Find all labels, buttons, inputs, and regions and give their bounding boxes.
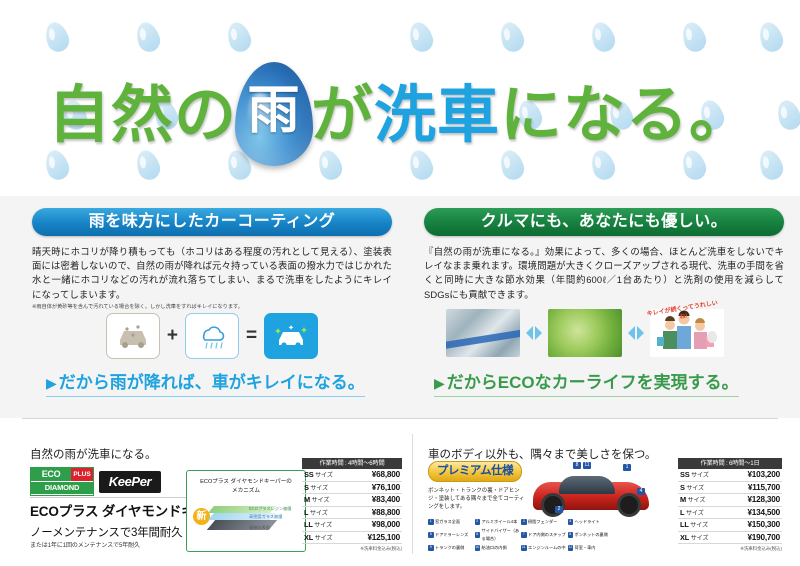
- rain-drop-icon: [133, 19, 163, 54]
- table-row: XL サイズ¥125,100: [302, 532, 402, 545]
- feature-label: ヘッドライト: [575, 518, 600, 526]
- rain-drop-icon: [756, 19, 786, 54]
- table-row: SS サイズ¥103,200: [678, 469, 782, 482]
- clean-car-sparkle-icon: [264, 313, 318, 359]
- price-size: LL サイズ: [302, 520, 332, 529]
- title-part-4: 洗車: [374, 81, 500, 150]
- table-row: SS サイズ¥68,800: [302, 469, 402, 482]
- feature-number: 4: [568, 519, 574, 525]
- mechanism-diagram: ECOプラス ダイヤモンドキーパーの メカニズム 新 ECOプラスレジン被膜 高…: [186, 470, 306, 552]
- drop-character: 雨: [235, 78, 313, 144]
- rain-drop-icon: [224, 19, 254, 54]
- dirty-car-icon: [106, 313, 160, 359]
- triangle-marker-icon: ▶: [46, 375, 57, 391]
- feature-number: 8: [568, 532, 574, 538]
- photo-strip: キレイが続くってうれしいね!: [446, 306, 776, 360]
- premium-description: ボンネット・トランクの裏・ドアヒンジ・塗装してある隅々まで全てコーティングをしま…: [428, 487, 528, 511]
- feature-item: 12荷室・車内: [568, 544, 615, 552]
- table-row: M サイズ¥128,300: [678, 494, 782, 507]
- price-size: L サイズ: [302, 508, 328, 517]
- table-row: XL サイズ¥190,700: [678, 532, 782, 545]
- price-value: ¥150,300: [747, 520, 782, 529]
- feature-label: トランクの裏側: [435, 544, 464, 552]
- plus-operator: +: [167, 325, 178, 347]
- right-panel-heading: クルマにも、あなたにも優しい。: [424, 208, 784, 236]
- callout-1: 1: [623, 464, 631, 471]
- price-size: XL サイズ: [302, 533, 332, 542]
- standard-price-rows: SS サイズ¥68,800S サイズ¥76,100M サイズ¥83,400L サ…: [302, 469, 402, 544]
- water-droplets-photo: [446, 309, 520, 357]
- plus-logo-text: PLUS: [71, 468, 93, 481]
- title-part-3: が: [311, 81, 374, 150]
- price-size: M サイズ: [302, 495, 329, 504]
- brand-logos: ECO PLUS DIAMOND KeePer: [30, 467, 161, 496]
- table-row: S サイズ¥76,100: [302, 482, 402, 495]
- feature-item: 9トランクの裏側: [428, 544, 475, 552]
- right-panel: クルマにも、あなたにも優しい。 『自然の雨が洗車になる。』効果によって、多くの場…: [424, 208, 784, 302]
- feature-item: 3樹脂フェンダー: [521, 518, 568, 526]
- price-size: M サイズ: [678, 495, 705, 504]
- price-size: L サイズ: [678, 508, 704, 517]
- layer-label-paint: 塗装の表面: [249, 525, 270, 531]
- premium-price-table: 作業時間 : 6時間～1日 SS サイズ¥103,200S サイズ¥115,70…: [678, 458, 782, 552]
- rain-drop-icon: [406, 19, 436, 54]
- left-right-arrow-icon: [628, 324, 644, 342]
- price-value: ¥83,400: [372, 495, 402, 504]
- green-leaves-photo: [548, 309, 622, 357]
- feature-item: 6サイドバイザー（ある場合）: [475, 527, 522, 543]
- callout-4: 4: [637, 488, 645, 495]
- new-badge: 新: [193, 508, 210, 525]
- price-size: XL サイズ: [678, 533, 708, 542]
- feature-label: 荷室・車内: [575, 544, 596, 552]
- equals-operator: =: [246, 325, 257, 347]
- feature-label: ドアミラーレンズ: [435, 531, 468, 539]
- left-panel-body: 晴天時にホコリが降り積もっても（ホコリはある程度の汚れとして見える）、塗装表面に…: [32, 245, 392, 302]
- table-row: M サイズ¥83,400: [302, 494, 402, 507]
- feature-label: アルミホイール4本: [482, 518, 518, 526]
- callout-8: 8: [573, 462, 581, 469]
- price-value: ¥190,700: [747, 533, 782, 542]
- price-value: ¥68,800: [372, 470, 402, 479]
- left-panel: 雨を味方にしたカーコーティング 晴天時にホコリが降り積もっても（ホコリはある程度…: [32, 208, 392, 311]
- price-value: ¥88,800: [372, 508, 402, 517]
- premium-price-rows: SS サイズ¥103,200S サイズ¥115,700M サイズ¥128,300…: [678, 469, 782, 544]
- standard-price-table: 作業時間 : 4時間～6時間 SS サイズ¥68,800S サイズ¥76,100…: [302, 458, 402, 552]
- feature-number: 9: [428, 545, 434, 551]
- hero-banner: 自然の雨が洗車になる。: [0, 0, 800, 196]
- premium-price-note: ※洗車料金込み(税込): [678, 546, 782, 552]
- rain-drop-icon: [497, 19, 527, 54]
- feature-label: ボンネットの裏側: [575, 531, 608, 539]
- price-value: ¥125,100: [367, 533, 402, 542]
- feature-item: 8ボンネットの裏側: [568, 527, 615, 543]
- rain-drop-icon: [588, 19, 618, 54]
- left-panel-heading: 雨を味方にしたカーコーティング: [32, 208, 392, 236]
- price-size: S サイズ: [678, 483, 704, 492]
- callout-11: 11: [583, 462, 591, 469]
- right-tagline: ▶だからECOなカーライフを実現する。: [434, 368, 739, 397]
- feature-item: 11エンジンルームの中: [521, 544, 568, 552]
- feature-label: 樹脂フェンダー: [528, 518, 557, 526]
- feature-number: 12: [568, 545, 574, 551]
- feature-number: 6: [475, 532, 481, 538]
- feature-number: 2: [475, 519, 481, 525]
- price-size: SS サイズ: [302, 470, 333, 479]
- rain-drop-icon: [42, 19, 72, 54]
- premium-work-time: 作業時間 : 6時間～1日: [678, 458, 782, 469]
- price-value: ¥128,300: [747, 495, 782, 504]
- eco-plus-diamond-logo: ECO PLUS DIAMOND: [30, 467, 94, 496]
- price-value: ¥103,200: [747, 470, 782, 479]
- table-row: S サイズ¥115,700: [678, 482, 782, 495]
- feature-number: 11: [521, 545, 527, 551]
- table-row: LL サイズ¥98,000: [302, 519, 402, 532]
- feature-number: 1: [428, 519, 434, 525]
- mechanism-title-line1: ECOプラス ダイヤモンドキーパーの: [187, 478, 305, 486]
- price-value: ¥115,700: [748, 483, 782, 492]
- right-panel-body: 『自然の雨が洗車になる。』効果によって、多くの場合、ほとんど洗車をしないでキレイ…: [424, 245, 784, 302]
- feature-item: 7ドア内側のステップ: [521, 527, 568, 543]
- red-suv-illustration: 8 11 1 4 2: [525, 462, 655, 514]
- product-durability: ノーメンテナンスで3年間耐久: [30, 524, 182, 540]
- feature-item: 2アルミホイール4本: [475, 518, 522, 526]
- left-right-arrow-icon: [526, 324, 542, 342]
- feature-label: 給油口の内側: [482, 544, 507, 552]
- table-row: L サイズ¥134,500: [678, 507, 782, 520]
- price-size: S サイズ: [302, 483, 328, 492]
- mechanism-title-line2: メカニズム: [187, 487, 305, 495]
- feature-label: エンジンルームの中: [528, 544, 566, 552]
- vertical-divider: [412, 434, 413, 554]
- family-illustration: キレイが続くってうれしいね!: [650, 309, 724, 357]
- price-value: ¥98,000: [372, 520, 402, 529]
- product-durability-sub: または1年に1回のメンテナンスで5年耐久: [30, 540, 140, 549]
- feature-number: 5: [428, 532, 434, 538]
- eco-logo-text: ECO: [31, 468, 71, 481]
- feature-item: 4ヘッドライト: [568, 518, 615, 526]
- premium-lead: 車のボディ以外も、隅々まで美しさを保つ。: [428, 446, 656, 462]
- table-row: L サイズ¥88,800: [302, 507, 402, 520]
- left-tagline-text: だから雨が降れば、車がキレイになる。: [59, 373, 365, 392]
- horizontal-divider: [22, 418, 778, 419]
- layer-label-glass: 高密度ガラス被膜: [249, 514, 282, 520]
- equation-diagram: + =: [32, 310, 392, 362]
- standard-work-time: 作業時間 : 4時間～6時間: [302, 458, 402, 469]
- feature-label: 窓ガラス全面: [435, 518, 460, 526]
- feature-number: 7: [521, 532, 527, 538]
- feature-number: 3: [521, 519, 527, 525]
- price-size: LL サイズ: [678, 520, 708, 529]
- layer-label-resin: ECOプラスレジン被膜: [249, 506, 292, 512]
- diamond-logo-text: DIAMOND: [31, 482, 93, 494]
- rain-cloud-icon: [185, 313, 239, 359]
- feature-item: 1窓ガラス全面: [428, 518, 475, 526]
- page-title: 自然の雨が洗車になる。: [0, 62, 800, 166]
- table-row: LL サイズ¥150,300: [678, 519, 782, 532]
- rain-drop-icon: [679, 19, 709, 54]
- feature-label: ドア内側のステップ: [528, 531, 566, 539]
- callout-2: 2: [555, 506, 563, 513]
- feature-label: サイドバイザー（ある場合）: [482, 527, 522, 543]
- water-drop-icon: 雨: [235, 62, 313, 166]
- feature-item: 10給油口の内側: [475, 544, 522, 552]
- keeper-logo: KeePer: [99, 471, 161, 493]
- title-part-5: になる。: [500, 81, 752, 150]
- price-value: ¥134,500: [747, 508, 782, 517]
- feature-item: 5ドアミラーレンズ: [428, 527, 475, 543]
- right-tagline-text: だからECOなカーライフを実現する。: [447, 373, 739, 392]
- feature-number: 10: [475, 545, 481, 551]
- product-lead: 自然の雨が洗車になる。: [30, 446, 157, 462]
- premium-badge: プレミアム仕様: [428, 461, 522, 482]
- triangle-marker-icon: ▶: [434, 375, 445, 391]
- premium-feature-list: 1窓ガラス全面2アルミホイール4本3樹脂フェンダー4ヘッドライト5ドアミラーレン…: [428, 518, 614, 553]
- left-tagline: ▶だから雨が降れば、車がキレイになる。: [46, 368, 365, 397]
- standard-price-note: ※洗車料金込み(税込): [302, 546, 402, 552]
- mechanism-layers: 新 ECOプラスレジン被膜 高密度ガラス被膜 塗装の表面: [187, 500, 305, 540]
- title-part-1: 自然の: [48, 81, 237, 150]
- price-value: ¥76,100: [372, 483, 402, 492]
- product-name-rule: [30, 497, 190, 498]
- advertisement-page: 自然の雨が洗車になる。 雨を味方にしたカーコーティング 晴天時にホコリが降り積も…: [0, 0, 800, 566]
- price-size: SS サイズ: [678, 470, 709, 479]
